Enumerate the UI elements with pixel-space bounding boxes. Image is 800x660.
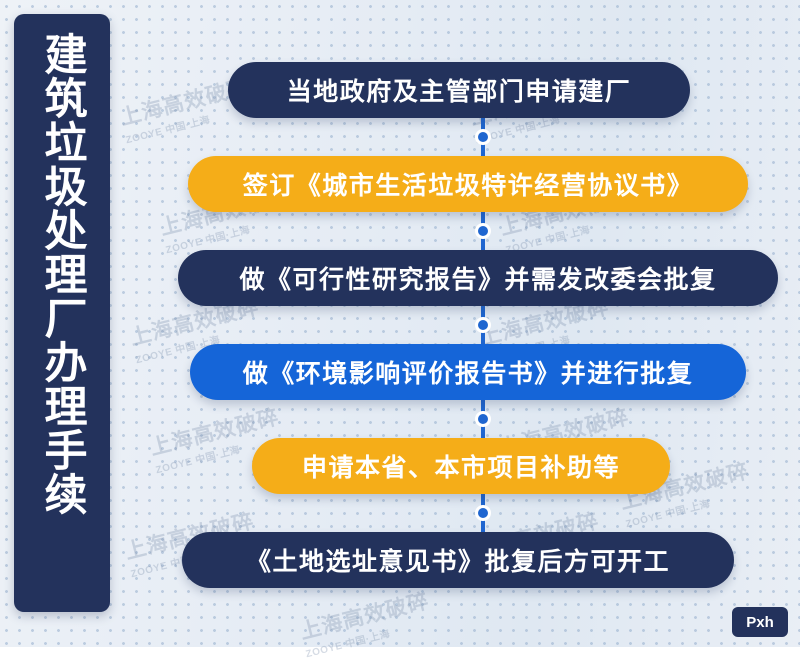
flow-step-label: 当地政府及主管部门申请建厂 [287,72,632,108]
flow-node-dot [475,129,491,145]
flow-node-dot [475,223,491,239]
title-panel: 建筑垃圾处理厂办理手续 [14,14,110,612]
flow-step-label: 做《环境影响评价报告书》并进行批复 [243,354,694,390]
watermark-sub-text: ZOOYE 中国·上海 [304,614,436,660]
watermark: 上海高效破碎ZOOYE 中国·上海 [297,585,436,660]
flow-step[interactable]: 做《可行性研究报告》并需发改委会批复 [178,250,778,306]
watermark-main-text: 上海高效破碎 [298,590,432,644]
flow-step-label: 《土地选址意见书》批复后方可开工 [246,542,670,578]
flow-step[interactable]: 当地政府及主管部门申请建厂 [228,62,690,118]
flow-step[interactable]: 《土地选址意见书》批复后方可开工 [182,532,734,588]
flow-step[interactable]: 签订《城市生活垃圾特许经营协议书》 [188,156,748,212]
diagram-canvas: 上海高效破碎ZOOYE 中国·上海上海高效破碎ZOOYE 中国·上海上海高效破碎… [0,0,800,647]
flow-step[interactable]: 做《环境影响评价报告书》并进行批复 [190,344,746,400]
flow-node-dot [475,505,491,521]
flow-step-label: 签订《城市生活垃圾特许经营协议书》 [243,166,694,202]
site-logo-text: Pxh [746,614,774,631]
flow-step[interactable]: 申请本省、本市项目补助等 [252,438,670,494]
flow-step-label: 做《可行性研究报告》并需发改委会批复 [239,260,716,296]
flow-node-dot [475,317,491,333]
site-logo: Pxh [732,607,788,637]
page-title: 建筑垃圾处理厂办理手续 [36,32,88,516]
flow-node-dot [475,411,491,427]
flow-step-label: 申请本省、本市项目补助等 [302,448,620,484]
